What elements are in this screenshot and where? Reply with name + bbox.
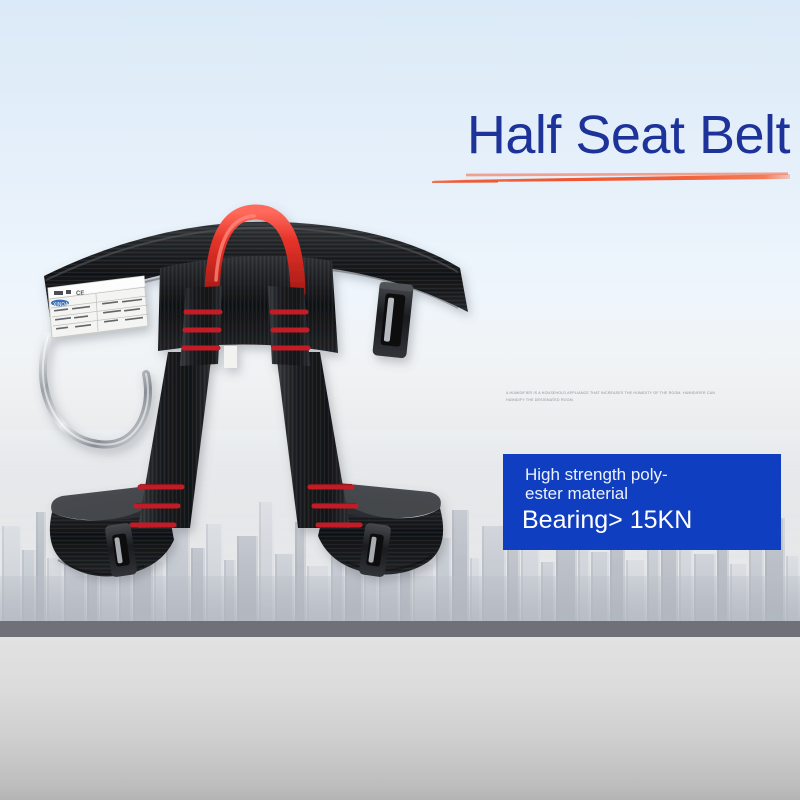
riser-strap-right bbox=[268, 286, 310, 366]
waist-buckle bbox=[372, 281, 414, 358]
fine-print-paragraph: A HUMIDIFIER IS A HOUSEHOLD APPLIANCE TH… bbox=[506, 390, 784, 405]
svg-text:CE: CE bbox=[76, 291, 84, 297]
riser-strap-left bbox=[180, 286, 222, 366]
care-tag bbox=[224, 346, 237, 368]
fine-print-line-2: HUMIDIFY THE DESIGNATED ROOM. bbox=[506, 397, 784, 404]
spec-material-text: High strength poly- ester material bbox=[525, 465, 755, 503]
spec-panel: High strength poly- ester material Beari… bbox=[503, 454, 781, 550]
page-title: Half Seat Belt bbox=[420, 106, 790, 164]
product-banner: CE XINDA bbox=[0, 0, 800, 800]
bottom-panel bbox=[0, 637, 800, 800]
fine-print-line-1: A HUMIDIFIER IS A HOUSEHOLD APPLIANCE TH… bbox=[506, 390, 784, 397]
spec-material-line-1: High strength poly- bbox=[525, 465, 755, 484]
spec-bearing-text: Bearing> 15KN bbox=[522, 506, 692, 534]
title-underline-brushstroke bbox=[432, 172, 792, 183]
spec-material-line-2: ester material bbox=[525, 484, 755, 503]
gear-ring-left bbox=[43, 336, 148, 445]
